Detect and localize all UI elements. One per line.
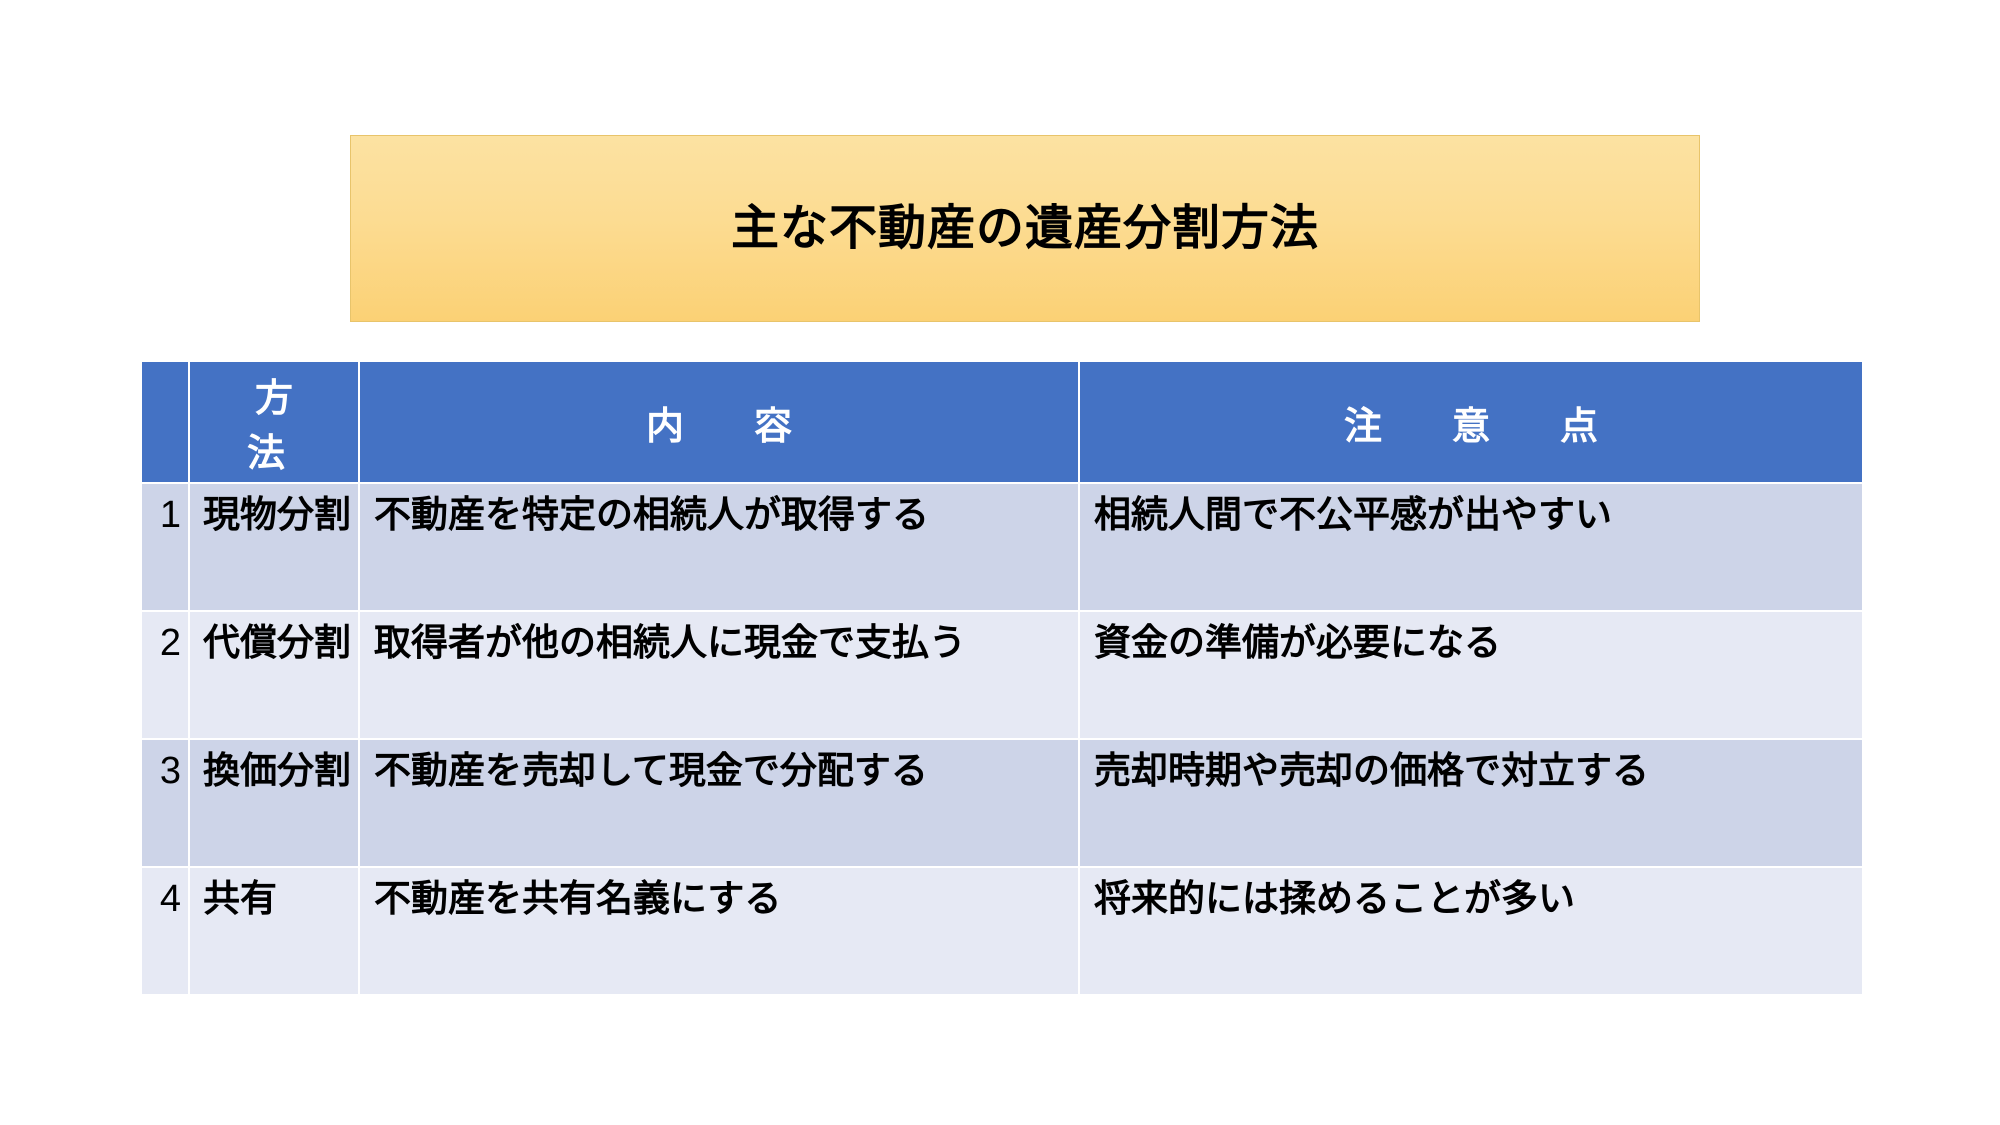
comparison-table-container: 方 法 内 容 注 意 点 1 現物分割 不動産を特定の相続人が取得する 相続人… [140,360,1858,996]
column-header-index [142,362,188,482]
cell-method: 現物分割 [190,484,358,610]
cell-caution: 相続人間で不公平感が出やすい [1080,484,1862,610]
page-title: 主な不動産の遺産分割方法 [731,200,1319,258]
cell-caution: 売却時期や売却の価格で対立する [1080,740,1862,866]
cell-method: 代償分割 [190,612,358,738]
cell-content: 不動産を特定の相続人が取得する [360,484,1078,610]
table-row: 2 代償分割 取得者が他の相続人に現金で支払う 資金の準備が必要になる [142,612,1862,738]
table-header: 方 法 内 容 注 意 点 [142,362,1862,482]
table-header-row: 方 法 内 容 注 意 点 [142,362,1862,482]
cell-index: 2 [142,612,188,738]
table-row: 4 共有 不動産を共有名義にする 将来的には揉めることが多い [142,868,1862,994]
cell-caution: 将来的には揉めることが多い [1080,868,1862,994]
table-row: 3 換価分割 不動産を売却して現金で分配する 売却時期や売却の価格で対立する [142,740,1862,866]
cell-caution: 資金の準備が必要になる [1080,612,1862,738]
column-header-caution: 注 意 点 [1080,362,1862,482]
cell-content: 取得者が他の相続人に現金で支払う [360,612,1078,738]
column-header-content: 内 容 [360,362,1078,482]
cell-content: 不動産を共有名義にする [360,868,1078,994]
cell-index: 3 [142,740,188,866]
cell-method: 換価分割 [190,740,358,866]
table-body: 1 現物分割 不動産を特定の相続人が取得する 相続人間で不公平感が出やすい 2 … [142,484,1862,994]
cell-method: 共有 [190,868,358,994]
title-banner: 主な不動産の遺産分割方法 [350,135,1700,322]
column-header-method: 方 法 [190,362,358,482]
cell-index: 4 [142,868,188,994]
table-row: 1 現物分割 不動産を特定の相続人が取得する 相続人間で不公平感が出やすい [142,484,1862,610]
cell-content: 不動産を売却して現金で分配する [360,740,1078,866]
inheritance-division-methods-table: 方 法 内 容 注 意 点 1 現物分割 不動産を特定の相続人が取得する 相続人… [140,360,1864,996]
cell-index: 1 [142,484,188,610]
